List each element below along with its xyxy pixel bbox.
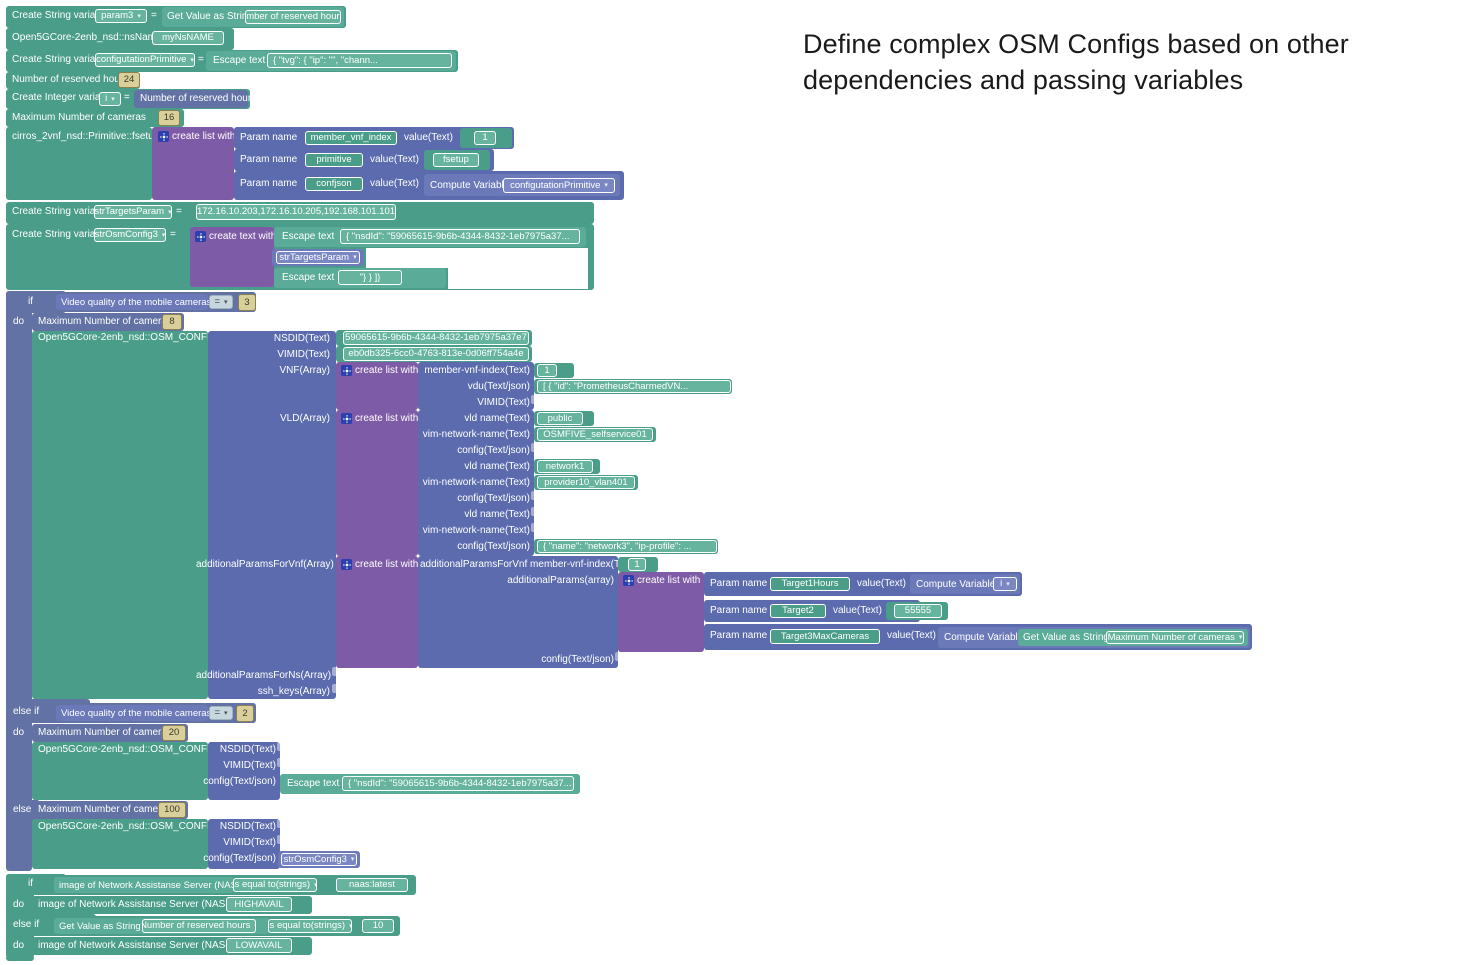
- param-row-1-name-label: Param name: [240, 133, 297, 143]
- escape-text-value-label-1: { "tvg": { "ip": "", "chann...: [273, 56, 378, 66]
- integer-i-variable-label: i: [105, 94, 107, 104]
- target3-compute-label: Compute Variable: [944, 633, 1023, 643]
- branch1-field-vnf-label: VNF(Array): [226, 366, 330, 376]
- strosmconfig3-escape-label-2: Escape text: [282, 273, 334, 283]
- escape-text-label-1: Escape text: [213, 56, 265, 66]
- apfv-create-list-label: create list with: [355, 560, 418, 570]
- equals-sign-3: =: [124, 93, 130, 103]
- vld-network1-value: network1: [546, 462, 585, 472]
- param-row-3-name-label: Param name: [240, 179, 297, 189]
- vnf-member-index-label: member-vnf-index(Text): [420, 366, 530, 376]
- reserved-hours-getter-label: Number of reserved hours: [140, 94, 256, 104]
- target2-param-name-field[interactable]: Target2: [770, 604, 826, 618]
- vld-create-list-block[interactable]: [336, 410, 418, 556]
- chevron-down-icon: ▾: [1006, 581, 1010, 588]
- if-block2-do-2-stmt-label: image of Network Assistanse Server (NASS…: [38, 941, 235, 951]
- vnf-vdu-value: [ { "id": "PrometheusCharmedVN...: [543, 382, 688, 392]
- compute-variable-label-1: Compute Variable: [430, 181, 509, 191]
- target2-value-text: 55555: [905, 606, 931, 616]
- if-block2-cond-1-left-label: image of Network Assistanse Server (NASS…: [59, 881, 246, 891]
- configutationprimitive-compute-dropdown[interactable]: configutationPrimitive▾: [503, 178, 615, 193]
- condition-1-left-label: Video quality of the mobile cameras: [61, 298, 211, 308]
- apfv-index-label: additionalParamsForVnf member-vnf-index(…: [420, 560, 614, 570]
- branch3-field-vimid-label: VIMID(Text): [206, 838, 276, 848]
- if-block2-cond-1-right-label: naas:latest: [349, 880, 395, 890]
- branch1-field-apfv-label: additionalParamsForVnf(Array): [196, 560, 330, 570]
- branch1-nsdid-value: 59065615-9b6b-4344-8432-1eb7975a37e7: [345, 333, 527, 343]
- branch1-osm-config-label: Open5GCore-2enb_nsd::OSM_CONFIG: [38, 333, 218, 343]
- target1-compute-var-label: i: [1000, 579, 1002, 589]
- branch2-set-max-cameras-label: Maximum Number of cameras: [38, 728, 172, 738]
- branch2-escape-label: Escape text: [287, 779, 339, 789]
- configutationprimitive-compute-label: configutationPrimitive: [510, 181, 600, 191]
- param-row-2-name-value: primitive: [316, 155, 351, 165]
- nsname-value-field[interactable]: myNsNAME: [152, 31, 224, 45]
- vnf-vimid-input-notch: [531, 395, 537, 404]
- condition-2-operator-label: =: [214, 708, 220, 718]
- vld-row-7-notch: [531, 523, 537, 532]
- branch2-osm-config-label: Open5GCore-2enb_nsd::OSM_CONFIG: [38, 745, 218, 755]
- primitive-fsetup-label: cirros_2vnf_nsd::Primitive::fsetup: [12, 132, 159, 142]
- branch3-set-max-cameras-label: Maximum Number of cameras: [38, 805, 172, 815]
- if-block2-cond-2-left-label: Number of reserved hours: [142, 921, 250, 931]
- chevron-down-icon: ▾: [254, 923, 256, 930]
- if-block2-do-2-value-field[interactable]: LOWAVAIL: [226, 938, 292, 953]
- vnf-vimid-label: VIMID(Text): [420, 398, 530, 408]
- if-block2-do-label-1: do: [13, 900, 24, 910]
- branch2-escape-value: { "nsdId": "59065615-9b6b-4344-8432-1eb7…: [348, 779, 572, 789]
- row-set-max-cameras-label: Maximum Number of cameras: [12, 113, 146, 123]
- if-block2-cond-2-operator-dropdown[interactable]: is equal to(strings)▾: [268, 919, 352, 933]
- condition-2-left-label: Video quality of the mobile cameras: [61, 709, 211, 719]
- do-label-2: do: [13, 728, 24, 738]
- strosmconfig3-variable-dropdown[interactable]: strOsmConfig3▾: [94, 228, 166, 242]
- if-block2-footer: [6, 955, 34, 961]
- vld-row-4-label: vim-network-name(Text): [420, 478, 530, 488]
- chevron-down-icon: ▾: [190, 57, 194, 64]
- branch3-strosmconfig3-dropdown[interactable]: strOsmConfig3▾: [281, 853, 357, 866]
- chevron-down-icon: ▾: [224, 710, 228, 717]
- mutator-gear-icon-7[interactable]: [623, 575, 634, 586]
- integer-i-variable-dropdown[interactable]: i▾: [99, 92, 121, 106]
- vnf-vdu-field[interactable]: [ { "id": "PrometheusCharmedVN...: [537, 380, 731, 393]
- chevron-down-icon: ▾: [349, 923, 352, 930]
- strtargetsparam-variable-dropdown[interactable]: strTargetsParam▾: [94, 205, 172, 219]
- strosmconfig3-escape-value-2[interactable]: "} } ]}: [338, 270, 402, 285]
- strosmconfig3-escape-value-text-1: { "nsdId": "59065615-9b6b-4344-8432-1eb7…: [346, 232, 570, 242]
- branch2-escape-value-field[interactable]: { "nsdId": "59065615-9b6b-4344-8432-1eb7…: [342, 776, 574, 791]
- configutationprimitive-variable-dropdown[interactable]: configutationPrimitive▾: [95, 53, 195, 67]
- do-label-1: do: [13, 317, 24, 327]
- blockly-workspace[interactable]: Define complex OSM Configs based on othe…: [0, 0, 1457, 965]
- vld-create-list-label: create list with: [355, 414, 418, 424]
- if-block2-cond-2-left-dropdown[interactable]: Number of reserved hours▾: [142, 919, 256, 933]
- branch1-nsdid-field[interactable]: 59065615-9b6b-4344-8432-1eb7975a37e7: [343, 331, 529, 345]
- vld-vimnetwork-1-field[interactable]: provider10_vlan401: [537, 476, 635, 489]
- vld-row-6-label: vld name(Text): [420, 510, 530, 520]
- param-row-1-name-field[interactable]: member_vnf_index: [305, 131, 397, 145]
- else-if-label-1: else if: [13, 707, 39, 717]
- chevron-down-icon: ▾: [351, 856, 355, 863]
- apfv-config-notch: [615, 652, 621, 661]
- if-block2-label: if: [28, 879, 33, 889]
- vnf-create-list-label: create list with: [355, 366, 418, 376]
- branch1-field-sshkeys-label: ssh_keys(Array): [196, 687, 330, 697]
- mutator-gear-icon-2[interactable]: [195, 231, 206, 242]
- apfv-rows-container[interactable]: [418, 556, 618, 668]
- target3-param-name-label: Param name: [710, 631, 767, 641]
- param3-variable-label: param3: [101, 11, 133, 21]
- branch3-vimid-notch: [277, 835, 283, 844]
- branch1-max-cameras-value-label: 8: [169, 317, 174, 327]
- target2-param-name-label: Param name: [710, 606, 767, 616]
- branch2-field-nsdid-label: NSDID(Text): [206, 745, 276, 755]
- chevron-down-icon: ▾: [224, 299, 228, 306]
- branch1-osm-config-fields[interactable]: [208, 331, 336, 699]
- vld-row-6-notch: [531, 507, 537, 516]
- target2-value-label: value(Text): [833, 606, 882, 616]
- param-row-2-name-label: Param name: [240, 155, 297, 165]
- condition-2-value-label: 2: [242, 709, 247, 719]
- param-row-3-value-label: value(Text): [370, 179, 419, 189]
- vld-vimnetwork-1-value: provider10_vlan401: [544, 478, 627, 488]
- max-cameras-number-label: 16: [164, 113, 175, 123]
- branch2-max-cameras-value[interactable]: 20: [162, 725, 186, 741]
- target3-getter-var-label: Maximum Number of cameras: [1108, 633, 1235, 643]
- vld-public-field[interactable]: public: [537, 412, 583, 425]
- target2-param-name-value: Target2: [782, 606, 814, 616]
- chevron-down-icon: ▾: [1239, 634, 1243, 641]
- sshkeys-input-notch: [332, 684, 338, 693]
- target3-getter-label: Get Value as String: [1023, 633, 1109, 643]
- chevron-down-icon: ▾: [314, 882, 317, 889]
- max-cameras-number-field[interactable]: 16: [158, 110, 180, 126]
- strtargetsparam-value-field[interactable]: 172.16.10.203,172.16.10.205,192.168.101.…: [196, 204, 396, 220]
- chevron-down-icon: ▾: [604, 182, 608, 189]
- apfns-input-notch: [332, 667, 338, 676]
- if-block2-cond-1-operator-label: is equal to(strings): [233, 880, 310, 890]
- param-row-2-name-field[interactable]: primitive: [305, 153, 363, 167]
- param-row-2-value-label: value(Text): [370, 155, 419, 165]
- vld-config-2-field[interactable]: { "name": "network3", "ip-profile": ...: [537, 540, 717, 553]
- chevron-down-icon: ▾: [137, 13, 141, 20]
- branch2-field-config-label: config(Text/json): [200, 777, 276, 787]
- if-block2-cond-2-right-label: 10: [373, 921, 384, 931]
- target1-compute-var-dropdown[interactable]: i▾: [993, 577, 1017, 591]
- vnf-member-index-value: 1: [544, 366, 549, 376]
- param-row-1-value-text: 1: [482, 133, 487, 143]
- branch1-field-vimid-label: VIMID(Text): [226, 350, 330, 360]
- param-row-1-value-label: value(Text): [404, 133, 453, 143]
- param-row-3-name-value: confjson: [316, 179, 351, 189]
- branch3-max-cameras-value[interactable]: 100: [158, 802, 186, 818]
- vld-public-value: public: [548, 414, 573, 424]
- target3-value-label: value(Text): [887, 631, 936, 641]
- apfv-index-field[interactable]: 1: [628, 558, 646, 571]
- vld-row-7-label: vim-network-name(Text): [420, 526, 530, 536]
- branch3-field-config-label: config(Text/json): [200, 854, 276, 864]
- if-block2-cond-2-getter-label: Get Value as String: [59, 922, 141, 932]
- branch1-vimid-value: eb0db325-6cc0-4763-813e-0d06ff754a4e: [348, 349, 523, 359]
- target1-param-name-label: Param name: [710, 579, 767, 589]
- equals-sign-1: =: [151, 11, 157, 21]
- branch3-osm-config-label: Open5GCore-2enb_nsd::OSM_CONFIG: [38, 822, 218, 832]
- param-row-1-value-field[interactable]: 1: [474, 131, 496, 145]
- if-block2-do-1-stmt-label: image of Network Assistanse Server (NASS…: [38, 900, 235, 910]
- branch1-field-nsdid-label: NSDID(Text): [226, 334, 330, 344]
- if-block2-do-1-value-field[interactable]: HIGHAVAIL: [226, 897, 292, 912]
- strtargetsparam-getter-label: strTargetsParam: [279, 253, 349, 263]
- vnf-member-index-field[interactable]: 1: [537, 364, 557, 377]
- strosmconfig3-escape-label-1: Escape text: [282, 232, 334, 242]
- target3-getter-var-dropdown[interactable]: Maximum Number of cameras▾: [1106, 631, 1244, 644]
- branch1-field-vld-label: VLD(Array): [226, 414, 330, 424]
- vld-row-2-notch: [531, 443, 537, 452]
- branch2-nsdid-notch: [277, 742, 283, 751]
- target1-value-label: value(Text): [857, 579, 906, 589]
- create-text-with-label: create text with: [209, 232, 276, 242]
- target3-param-name-value: Target3MaxCameras: [781, 632, 869, 642]
- page-title: Define complex OSM Configs based on othe…: [803, 26, 1453, 98]
- strosmconfig3-variable-label: strOsmConfig3: [95, 230, 158, 240]
- row-nsname-label: Open5GCore-2enb_nsd::nsName: [12, 33, 162, 43]
- get-value-as-string-label-1: Get Value as String: [167, 12, 253, 22]
- branch1-vimid-field[interactable]: eb0db325-6cc0-4763-813e-0d06ff754a4e: [343, 347, 529, 361]
- vld-vimnetwork-0-field[interactable]: OSMFIVE_selfservice01: [537, 428, 653, 441]
- if-label-1: if: [28, 297, 33, 307]
- primitive-create-list-label: create list with: [172, 132, 235, 142]
- condition-2-value-field[interactable]: 2: [236, 705, 254, 722]
- target1-param-name-field[interactable]: Target1Hours: [770, 577, 850, 591]
- apfv-inner-list-label: create list with: [637, 576, 700, 586]
- equals-sign-5: =: [170, 230, 176, 240]
- branch1-osm-config-block[interactable]: [32, 331, 208, 699]
- strosmconfig3-escape-value-text-2: "} } ]}: [360, 273, 381, 283]
- if-block2-cond-2-operator-label: is equal to(strings): [268, 921, 345, 931]
- branch3-nsdid-notch: [277, 819, 283, 828]
- if-block2-cond-1-operator-dropdown[interactable]: is equal to(strings)▾: [233, 878, 317, 892]
- vld-config-2-value: { "name": "network3", "ip-profile": ...: [543, 542, 692, 552]
- equals-sign-2: =: [198, 55, 204, 65]
- chevron-down-icon: ▾: [162, 232, 166, 239]
- chevron-down-icon: ▾: [168, 209, 172, 216]
- target1-compute-label: Compute Variable: [916, 580, 995, 590]
- vld-row-0-label: vld name(Text): [420, 414, 530, 424]
- branch2-max-cameras-value-label: 20: [169, 728, 180, 738]
- vld-vimnetwork-0-value: OSMFIVE_selfservice01: [543, 430, 646, 440]
- mutator-gear-icon-5[interactable]: [341, 413, 352, 424]
- condition-2-operator-dropdown[interactable]: =▾: [209, 706, 233, 720]
- equals-sign-4: =: [176, 207, 182, 217]
- apfv-params-label: additionalParams(array): [420, 576, 614, 586]
- condition-1-value-label: 3: [244, 298, 249, 308]
- reserved-hours-dropdown-1[interactable]: Number of reserved hours▾: [245, 10, 341, 24]
- mutator-gear-icon-1[interactable]: [158, 131, 169, 142]
- mutator-gear-icon-4[interactable]: [341, 365, 352, 376]
- target1-param-name-value: Target1Hours: [781, 579, 838, 589]
- param-row-2-value-field[interactable]: fsetup: [433, 153, 479, 167]
- branch3-strosmconfig3-label: strOsmConfig3: [284, 855, 347, 865]
- param3-variable-dropdown[interactable]: param3▾: [95, 9, 147, 23]
- nsname-value-label: myNsNAME: [162, 33, 214, 43]
- chevron-down-icon: ▾: [111, 96, 115, 103]
- branch2-vimid-notch: [277, 758, 283, 767]
- reserved-hours-label-1: Number of reserved hours: [245, 12, 341, 22]
- vld-row-5-label: config(Text/json): [420, 494, 530, 504]
- vld-row-1-label: vim-network-name(Text): [420, 430, 530, 440]
- condition-1-value-field[interactable]: 3: [238, 294, 256, 311]
- escape-text-value-1[interactable]: { "tvg": { "ip": "", "chann...: [267, 53, 452, 68]
- vnf-vdu-label: vdu(Text/json): [420, 382, 530, 392]
- apfv-index-value: 1: [634, 560, 639, 570]
- param-row-3-name-field[interactable]: confjson: [305, 177, 363, 191]
- row-set-reserved-hours-label: Number of reserved hours: [12, 75, 128, 85]
- strtargetsparam-value-label: 172.16.10.203,172.16.10.205,192.168.101.…: [197, 207, 395, 217]
- reserved-hours-number-label: 24: [124, 75, 135, 85]
- if-block2-do-1-value-label: HIGHAVAIL: [234, 900, 283, 910]
- branch1-max-cameras-value[interactable]: 8: [162, 314, 182, 330]
- if-block2-do-2-value-label: LOWAVAIL: [236, 941, 283, 951]
- apfv-create-list-block[interactable]: [336, 556, 418, 668]
- if-block2-do-label-2: do: [13, 941, 24, 951]
- chevron-down-icon: ▾: [353, 254, 357, 261]
- vld-row-5-notch: [531, 491, 537, 500]
- mutator-gear-icon-6[interactable]: [341, 559, 352, 570]
- strosmconfig3-escape-value-1[interactable]: { "nsdId": "59065615-9b6b-4344-8432-1eb7…: [340, 229, 580, 244]
- branch3-field-nsdid-label: NSDID(Text): [206, 822, 276, 832]
- target3-param-name-field[interactable]: Target3MaxCameras: [770, 629, 880, 644]
- apfv-config-label: config(Text/json): [420, 655, 614, 665]
- strtargetsparam-getter-dropdown[interactable]: strTargetsParam▾: [276, 251, 360, 264]
- branch1-set-max-cameras-label: Maximum Number of cameras: [38, 317, 172, 327]
- reserved-hours-number-field[interactable]: 24: [118, 72, 140, 88]
- param-row-1-name-value: member_vnf_index: [311, 133, 392, 143]
- if-block-spine[interactable]: [6, 291, 32, 871]
- configutationprimitive-variable-label: configutationPrimitive: [96, 55, 186, 65]
- vld-row-8-label: config(Text/json): [420, 542, 530, 552]
- vld-row-2-label: config(Text/json): [420, 446, 530, 456]
- condition-1-operator-label: =: [214, 297, 220, 307]
- else-label: else: [13, 805, 31, 815]
- branch1-field-apfns-label: additionalParamsForNs(Array): [196, 671, 330, 681]
- vld-network1-field[interactable]: network1: [537, 460, 593, 473]
- if-block2-else-if-label: else if: [13, 920, 39, 930]
- if-block2-cond-1-right-field[interactable]: naas:latest: [336, 878, 408, 892]
- branch2-field-vimid-label: VIMID(Text): [206, 761, 276, 771]
- vld-row-3-label: vld name(Text): [420, 462, 530, 472]
- if-block2-cond-2-right-field[interactable]: 10: [362, 919, 394, 933]
- condition-1-operator-dropdown[interactable]: =▾: [209, 295, 233, 309]
- target2-value-field[interactable]: 55555: [894, 604, 942, 618]
- branch3-max-cameras-value-label: 100: [164, 805, 180, 815]
- param-row-2-value-text: fsetup: [443, 155, 469, 165]
- strtargetsparam-variable-label: strTargetsParam: [94, 207, 164, 217]
